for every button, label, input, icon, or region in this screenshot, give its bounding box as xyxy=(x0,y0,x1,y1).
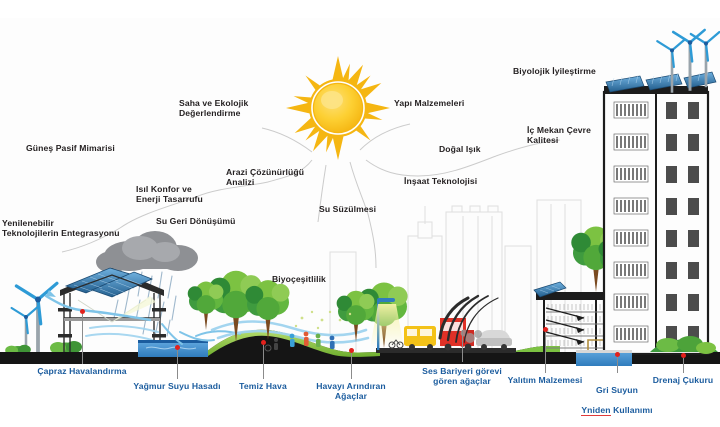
leader-line xyxy=(177,350,178,379)
label-dogal-isik: Doğal Işık xyxy=(439,144,509,154)
label-saha-ve-ekolojik: Saha ve Ekolojik Değerlendirme xyxy=(179,98,289,118)
greywater-underlined-word: Yniden xyxy=(581,405,610,416)
greywater-line2-rest: Kullanımı xyxy=(611,405,653,415)
greywater-tank-illustration xyxy=(576,350,632,366)
tree-icon xyxy=(188,282,224,330)
passive-solar-house-illustration xyxy=(46,268,166,352)
water-tank-icon xyxy=(138,340,208,357)
label-yenilenebilir-teknolojiler: Yenilenebilir Teknolojilerin Entegrasyon… xyxy=(2,218,134,238)
leader-line xyxy=(617,357,618,373)
greywater-line1: Gri Suyun xyxy=(596,385,638,395)
label-su-geri-donusumu: Su Geri Dönüşümü xyxy=(156,216,266,226)
label-capraz-havalandirma: Çapraz Havalandırma xyxy=(27,366,137,376)
label-biyolojik-iyilestirme: Biyolojik İyileştirme xyxy=(513,66,637,76)
leader-line xyxy=(545,332,546,373)
label-insaat-teknolojisi: İnşaat Teknolojisi xyxy=(404,176,508,186)
label-yagmur-suyu-hasadi: Yağmur Suyu Hasadı xyxy=(125,381,229,391)
leader-line xyxy=(462,330,463,362)
infographic-canvas: Güneş Pasif Mimarisi Yenilenebilir Tekno… xyxy=(0,0,720,427)
apartment-tower-illustration xyxy=(604,30,719,354)
leader-line xyxy=(683,358,684,373)
leader-line xyxy=(82,314,83,364)
label-gunes-pasif-mimarisi: Güneş Pasif Mimarisi xyxy=(26,143,156,153)
label-yapi-malzemeleri: Yapı Malzemeleri xyxy=(394,98,498,108)
leader-line xyxy=(263,345,264,379)
leader-line xyxy=(351,353,352,379)
label-arazi-cozunurlugu: Arazi Çözünürlüğü Analizi xyxy=(226,167,336,187)
sun-icon xyxy=(273,43,403,173)
label-biyocesitlilik: Biyoçeşitlilik xyxy=(272,274,356,284)
label-drenaj-cukuru: Drenaj Çukuru xyxy=(640,375,720,385)
label-ic-mekan-cevre-kalitesi: İç Mekan Çevre Kalitesi xyxy=(527,125,631,145)
label-havayi-arindiran-agaclar: Havayı Arındıran Ağaçlar xyxy=(303,381,399,401)
label-su-suzulmesi: Su Süzülmesi xyxy=(319,204,409,214)
label-temiz-hava: Temiz Hava xyxy=(225,381,301,391)
